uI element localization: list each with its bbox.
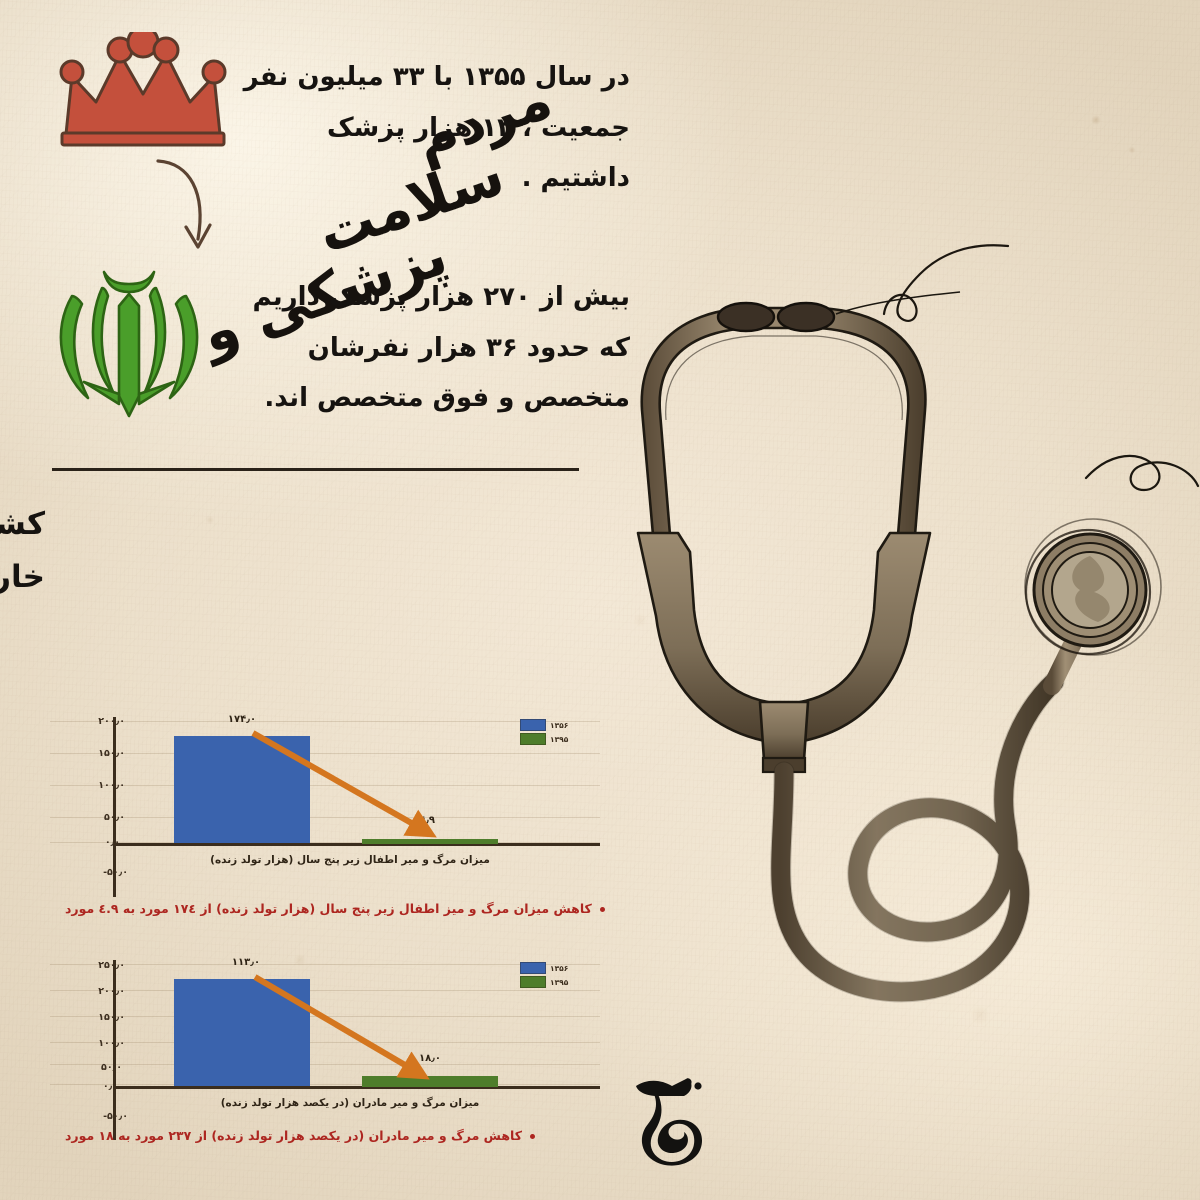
crown-icon — [48, 32, 238, 147]
chart2-legend: ۱۳۵۶ ۱۳۹۵ — [520, 962, 568, 990]
chart2-trend-arrow-icon — [50, 948, 600, 1138]
chart2-legend-swatch-1356 — [520, 962, 546, 974]
iran-emblem-icon — [44, 248, 214, 428]
chart-under-five-mortality: ۲۰۰٫۰ ۱۵۰٫۰ ۱۰۰٫۰ ۵۰٫۰ ۰٫۰ ۵۰٫۰- ۱۷۴٫۰ ۴… — [50, 705, 600, 895]
chart1-legend-item-1356: ۱۳۵۶ — [520, 719, 568, 731]
stethoscope-icon — [620, 290, 1200, 1120]
chart2-x-axis-label: میزان مرگ و میر مادران (در یکصد هزار تول… — [221, 1097, 480, 1109]
chart1-trend-arrow-icon — [50, 705, 600, 895]
section-divider — [52, 468, 579, 471]
chart-maternal-mortality: ۲۵۰٫۰ ۲۰۰٫۰ ۱۵۰٫۰ ۱۰۰٫۰ ۵۰٫۰ ۰٫۰ ۵۰٫۰- ۱… — [50, 948, 600, 1138]
chart1-caption: کاهش میزان مرگ و میز اطفال زیر پنج سال (… — [65, 901, 605, 916]
chart2-legend-label-1356: ۱۳۵۶ — [550, 964, 568, 973]
chart1-legend-swatch-1395 — [520, 733, 546, 745]
chart2-legend-swatch-1395 — [520, 976, 546, 988]
fact-text-2: بیش از ۲۷۰ هزار پزشک داریم که حدود ۳۶ هز… — [240, 272, 630, 424]
chart2-legend-label-1395: ۱۳۹۵ — [550, 978, 568, 987]
chart1-legend: ۱۳۵۶ ۱۳۹۵ — [520, 719, 568, 747]
chart1-legend-label-1356: ۱۳۵۶ — [550, 721, 568, 730]
fact-text-1: در سال ۱۳۵۵ با ۳۳ میلیون نفر جمعیت ، ۱۳ … — [240, 52, 630, 204]
chart1-legend-item-1395: ۱۳۹۵ — [520, 733, 568, 745]
fact-text-3: کشــور شــدیدا نیازمنــد ورود پزشک خارجـ… — [0, 498, 45, 658]
bullet-icon — [530, 1134, 535, 1139]
chart2-legend-item-1395: ۱۳۹۵ — [520, 976, 568, 988]
chart1-legend-label-1395: ۱۳۹۵ — [550, 735, 568, 744]
chart2-legend-item-1356: ۱۳۵۶ — [520, 962, 568, 974]
tabnak-logo-icon — [628, 1062, 718, 1170]
chart2-caption-text: کاهش مرگ و میر مادران (در یکصد هزار تولد… — [65, 1128, 522, 1143]
chart1-legend-swatch-1356 — [520, 719, 546, 731]
chart1-x-axis-label: میزان مرگ و میر اطفال زیر پنج سال (هزار … — [210, 854, 490, 866]
chart2-caption: کاهش مرگ و میر مادران (در یکصد هزار تولد… — [65, 1128, 535, 1143]
bullet-icon — [600, 907, 605, 912]
chart1-caption-text: کاهش میزان مرگ و میز اطفال زیر پنج سال (… — [65, 901, 592, 916]
